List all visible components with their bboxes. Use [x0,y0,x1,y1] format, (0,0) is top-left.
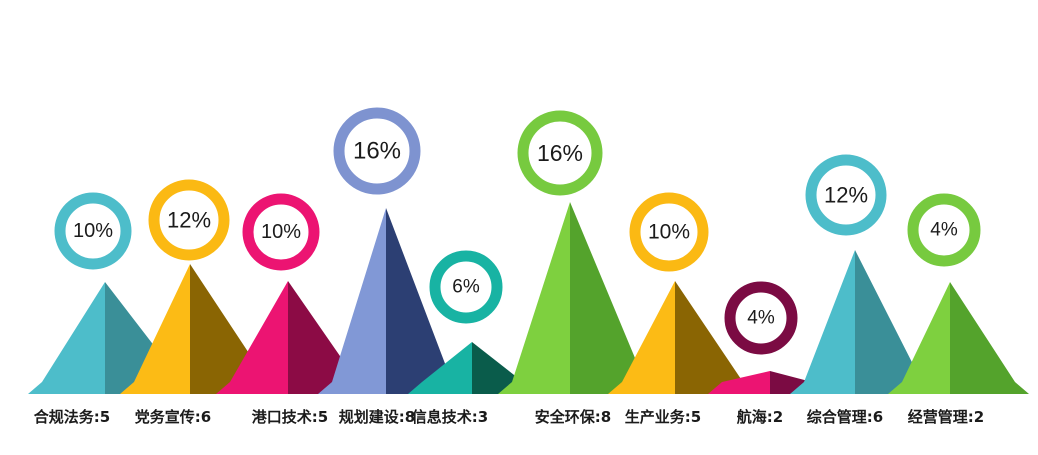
percent-bubble-规划建设[interactable]: 16% [334,108,421,195]
percent-bubble-生产业务[interactable]: 10% [630,193,709,272]
category-label-安全环保: 安全环保:8 [535,408,611,426]
percent-bubble-航海[interactable]: 4% [725,282,798,355]
percent-bubble-党务宣传[interactable]: 12% [149,180,230,261]
mountain-经营管理[interactable] [888,282,1029,394]
percent-label: 6% [452,277,480,298]
category-label-信息技术: 信息技术:3 [412,408,488,426]
percent-label: 4% [747,308,775,329]
percent-bubble-综合管理[interactable]: 12% [806,155,887,236]
percent-label: 12% [824,183,868,208]
mountain-left-face [28,282,105,394]
percent-label: 12% [167,208,211,233]
mountain-left-face [498,202,570,394]
percent-label: 16% [537,140,583,166]
category-label-综合管理: 综合管理:6 [807,408,883,426]
percent-label: 4% [930,220,958,241]
percent-label: 10% [261,221,301,243]
percent-bubble-安全环保[interactable]: 16% [518,111,603,196]
category-label-合规法务: 合规法务:5 [33,408,110,426]
mountain-infographic-chart: 10%12%10%16%6%16%10%4%12%4% 合规法务:5党务宣传:6… [0,0,1038,455]
chart-canvas: 10%12%10%16%6%16%10%4%12%4% 合规法务:5党务宣传:6… [0,0,1038,455]
category-label-规划建设: 规划建设:8 [339,408,415,426]
percent-label: 16% [353,138,401,165]
percent-label: 10% [73,220,113,242]
mountain-left-face [790,250,855,394]
percent-bubble-信息技术[interactable]: 6% [430,251,503,324]
percent-bubble-港口技术[interactable]: 10% [243,194,320,271]
category-label-港口技术: 港口技术:5 [252,408,328,426]
mountain-right-face [950,282,1029,394]
percent-bubble-合规法务[interactable]: 10% [55,193,132,270]
category-label-党务宣传: 党务宣传:6 [135,408,211,426]
percent-bubble-经营管理[interactable]: 4% [908,194,981,267]
category-label-生产业务: 生产业务:5 [625,408,701,426]
category-label-经营管理: 经营管理:2 [908,408,984,426]
category-labels-layer: 合规法务:5党务宣传:6港口技术:5规划建设:8信息技术:3安全环保:8生产业务… [33,408,984,426]
percent-label: 10% [648,221,690,244]
category-label-航海: 航海:2 [737,408,783,426]
